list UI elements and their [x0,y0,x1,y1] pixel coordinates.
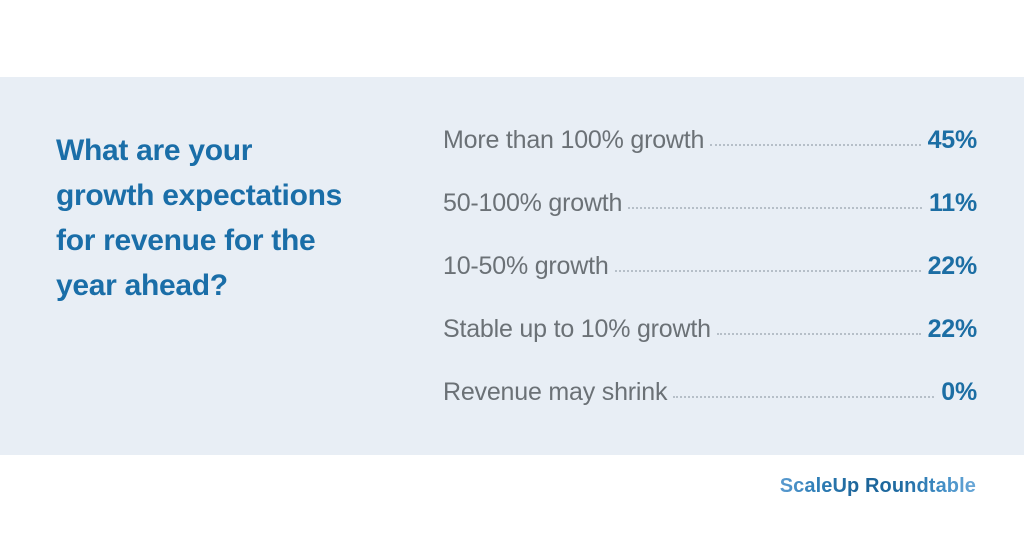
result-label: Revenue may shrink [443,378,667,407]
brand-logo: ScaleUp Roundtable [780,475,976,498]
dot-leader [628,206,922,209]
list-item: 10-50% growth 22% [443,252,977,315]
result-value: 0% [941,378,977,407]
page-title-line: growth expectations [56,173,416,218]
result-value: 11% [929,189,977,218]
dot-leader [710,143,920,146]
result-label: 50-100% growth [443,189,622,218]
list-item: Stable up to 10% growth 22% [443,315,977,378]
slide-canvas: What are your growth expectations for re… [0,0,1024,536]
list-item: 50-100% growth 11% [443,189,977,252]
list-item: Revenue may shrink 0% [443,378,977,441]
page-title-line: year ahead? [56,263,416,308]
results-list: More than 100% growth 45% 50-100% growth… [443,126,977,441]
result-label: Stable up to 10% growth [443,315,711,344]
list-item: More than 100% growth 45% [443,126,977,189]
result-value: 45% [928,126,977,155]
dot-leader [673,395,934,398]
result-value: 22% [928,315,977,344]
result-label: More than 100% growth [443,126,704,155]
page-title-line: for revenue for the [56,218,416,263]
page-title-line: What are your [56,128,416,173]
page-title: What are your growth expectations for re… [56,128,416,308]
result-value: 22% [928,252,977,281]
dot-leader [717,332,921,335]
dot-leader [615,269,921,272]
result-label: 10-50% growth [443,252,609,281]
